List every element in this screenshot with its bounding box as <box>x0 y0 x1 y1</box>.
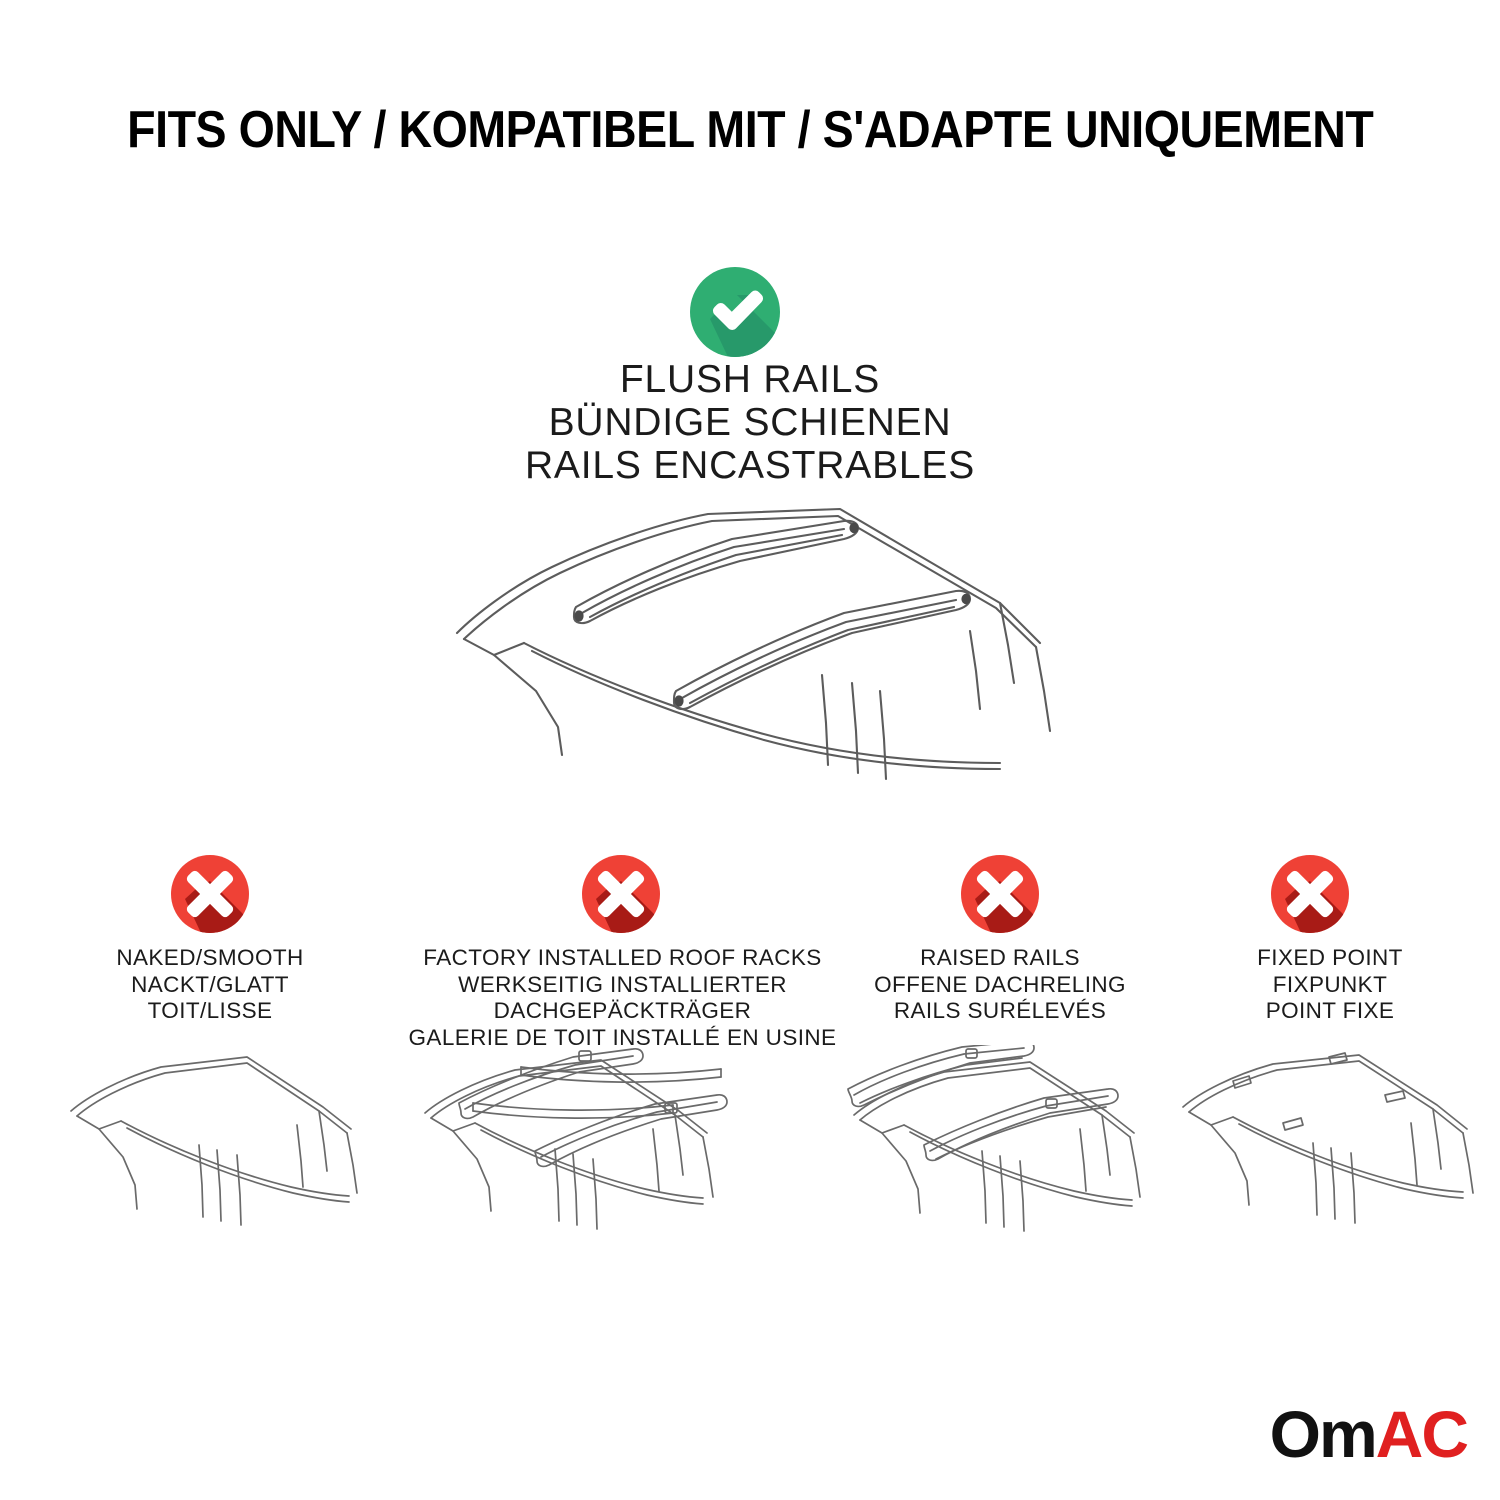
page-title: FITS ONLY / KOMPATIBEL MIT / S'ADAPTE UN… <box>127 104 1373 156</box>
exclusion-label-line-fr: TOIT/LISSE <box>40 998 380 1025</box>
exclusion-label-line-de: OFFENE DACHRELING <box>835 972 1165 999</box>
omac-logo: Om AC <box>1270 1407 1467 1467</box>
exclusion-label-line-de-1: WERKSEITIG INSTALLIERTER <box>395 972 850 999</box>
compatible-heading: FLUSH RAILS BÜNDIGE SCHIENEN RAILS ENCAS… <box>0 358 1500 487</box>
omac-logo-red-text: AC <box>1376 1401 1467 1467</box>
exclusion-label-factory-roof-racks: FACTORY INSTALLED ROOF RACKS WERKSEITIG … <box>395 945 850 1051</box>
check-circle-icon <box>690 267 780 357</box>
exclusion-label-line-fr: RAILS SURÉLEVÉS <box>835 998 1165 1025</box>
compatible-heading-line-fr: RAILS ENCASTRABLES <box>0 444 1500 487</box>
x-circle-icon <box>582 855 660 933</box>
exclusion-label-raised-rails: RAISED RAILS OFFENE DACHRELING RAILS SUR… <box>835 945 1165 1025</box>
car-roof-naked-illustration <box>65 1045 365 1240</box>
title-bar: FITS ONLY / KOMPATIBEL MIT / S'ADAPTE UN… <box>0 104 1500 156</box>
compatible-heading-line-en: FLUSH RAILS <box>0 358 1500 401</box>
exclusion-label-line-en: FIXED POINT <box>1180 945 1480 972</box>
x-circle-icon <box>961 855 1039 933</box>
car-roof-flush-rails-illustration <box>440 495 1080 795</box>
exclusion-label-fixed-point: FIXED POINT FIXPUNKT POINT FIXE <box>1180 945 1480 1025</box>
exclusion-label-line-en: FACTORY INSTALLED ROOF RACKS <box>395 945 850 972</box>
omac-logo-dark-text: Om <box>1270 1401 1376 1467</box>
car-roof-fixed-point-illustration <box>1175 1045 1495 1245</box>
exclusion-label-line-de: NACKT/GLATT <box>40 972 380 999</box>
compatible-heading-line-de: BÜNDIGE SCHIENEN <box>0 401 1500 444</box>
exclusion-label-line-fr: POINT FIXE <box>1180 998 1480 1025</box>
exclusion-label-line-en: NAKED/SMOOTH <box>40 945 380 972</box>
exclusion-label-line-de: FIXPUNKT <box>1180 972 1480 999</box>
exclusion-label-line-de-2: DACHGEPÄCKTRÄGER <box>395 998 850 1025</box>
exclusion-label-naked-smooth: NAKED/SMOOTH NACKT/GLATT TOIT/LISSE <box>40 945 380 1025</box>
x-circle-icon <box>1271 855 1349 933</box>
car-roof-factory-racks-illustration <box>415 1045 785 1245</box>
exclusion-label-line-en: RAISED RAILS <box>835 945 1165 972</box>
x-circle-icon <box>171 855 249 933</box>
car-roof-raised-rails-illustration <box>820 1045 1190 1245</box>
